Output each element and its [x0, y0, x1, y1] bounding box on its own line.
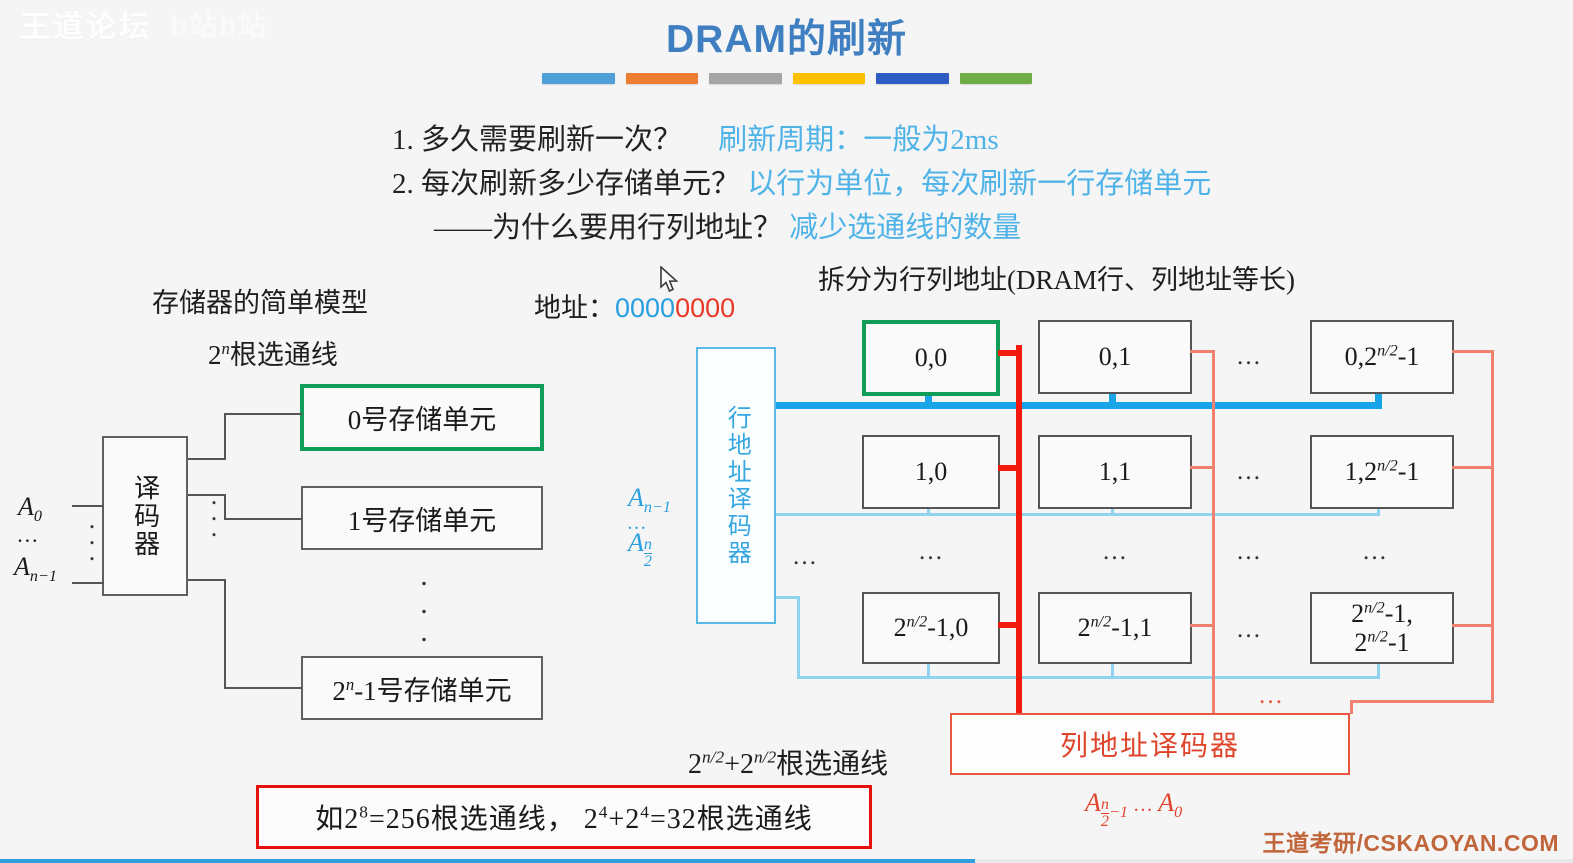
col-line-0-celllast-stub [998, 622, 1020, 628]
an1-letter: A [14, 552, 30, 581]
wire-dec-out-last [188, 579, 226, 581]
mouse-cursor-icon [660, 266, 682, 296]
matrix-cell-0-last-label: 0,2n/2-1 [1345, 342, 1420, 371]
left-diagram-caption: 存储器的简单模型 [152, 281, 368, 320]
wire-dec-last-vert [224, 579, 226, 689]
row-addr-top-letter: A [628, 483, 644, 512]
title-bar-4 [793, 73, 866, 84]
col-line-0-cell10-stub [998, 465, 1020, 471]
col-line-last-celllast-stub [1452, 624, 1494, 627]
address-col-bits: 0000 [675, 293, 735, 323]
column-address-decoder[interactable]: 列地址译码器 [950, 713, 1350, 775]
matrix-cell-1-0[interactable]: 1,0 [862, 435, 1000, 509]
matrix-cell-1-1-label: 1,1 [1099, 457, 1132, 486]
left-cells-dots: ... [416, 562, 432, 646]
example-note-box: 如28=256根选通线， 24+24=32根选通线 [256, 785, 872, 849]
col-line-1-celllast-stub [1190, 624, 1214, 627]
matrix-cell-0-1[interactable]: 0,1 [1038, 320, 1192, 394]
col-line-last-cell0-stub [1452, 350, 1494, 353]
matrix-cell-last-0[interactable]: 2n/2-1,0 [862, 592, 1000, 664]
select-lines-exp: n [222, 339, 230, 358]
col-line-last-bottom-v [1350, 700, 1353, 714]
matrix-row-dots-3: … [1362, 538, 1389, 566]
row-line-0-cell01-stub [1109, 392, 1116, 406]
question-row-1: 1. 多久需要刷新一次？ 刷新周期：一般为2ms [392, 118, 1392, 162]
row-line-last-right-stub [1377, 664, 1380, 678]
col-addr-left-tail: −1 [1109, 804, 1128, 821]
address-label: 地址： [534, 293, 615, 323]
row-addr-bottom-num: n [644, 537, 652, 553]
matrix-row-dots-0: … [918, 538, 945, 566]
slide-title: DRAM的刷新 [0, 8, 1573, 64]
row-addr-bottom-letter: A [628, 528, 644, 557]
matrix-cell-1-last[interactable]: 1,2n/2-1 [1310, 435, 1454, 509]
title-bar-5 [876, 73, 949, 84]
row-line-last [797, 676, 1380, 679]
col-lines-ellipsis: … [1258, 682, 1285, 710]
col-addr-left-num: n [1101, 797, 1109, 813]
matrix-cell-0-0-label: 0,0 [915, 343, 948, 372]
slide-canvas: 王道论坛 b站b站 王道考研/CSKAOYAN.COM DRAM的刷新 1. 多… [0, 0, 1573, 863]
matrix-cell-last-last[interactable]: 2n/2-1,2n/2-1 [1310, 592, 1454, 664]
address-row-bits: 0000 [615, 293, 675, 323]
row-address-decoder-label: 行地址译码器 [724, 405, 748, 567]
matrix-cell-0-0[interactable]: 0,0 [862, 320, 1000, 396]
col-addr-right-sub: 0 [1174, 804, 1182, 821]
question-3-answer: 减少选通线的数量 [789, 212, 1021, 244]
row-decoder-ellipsis: … [792, 543, 819, 571]
question-row-2: 2. 每次刷新多少存储单元？ 以行为单位，每次刷新一行存储单元 [392, 162, 1392, 206]
wire-dec-out-1 [188, 494, 226, 496]
address-row: 地址：00000000 [534, 286, 735, 325]
an1-sub: n−1 [30, 568, 57, 585]
cell-last-tail: -1号存储单元 [354, 676, 512, 706]
matrix-cell-1-0-label: 1,0 [915, 457, 948, 486]
question-1-text: 多久需要刷新一次？ [421, 124, 682, 156]
title-bar-2 [626, 73, 699, 84]
left-input-dots: … [18, 522, 38, 548]
matrix-cell-last-last-label: 2n/2-1,2n/2-1 [1351, 599, 1413, 657]
left-decoder-label: 译码器 [131, 474, 158, 558]
col-line-1 [1212, 350, 1215, 715]
question-2-number: 2. [392, 168, 414, 200]
wire-dec-0-vert [224, 413, 226, 460]
example-note-text: 如28=256根选通线， 24+24=32根选通线 [315, 797, 812, 837]
col-line-0 [1016, 345, 1022, 715]
row-line-0 [776, 402, 1382, 409]
matrix-cell-1-last-label: 1,2n/2-1 [1345, 457, 1420, 486]
matrix-cell-1-1[interactable]: 1,1 [1038, 435, 1192, 509]
row-addr-label-bottom: An2 [628, 528, 652, 570]
left-memory-cell-last[interactable]: 2n-1号存储单元 [301, 656, 543, 720]
column-address-decoder-label: 列地址译码器 [1060, 724, 1240, 764]
col-line-last [1491, 350, 1494, 702]
col-addr-left-letter: A [1085, 788, 1101, 817]
question-1-number: 1. [392, 124, 414, 156]
wire-dec-1-horiz [224, 518, 302, 520]
left-memory-cell-1-label: 1号存储单元 [348, 499, 497, 538]
row-address-decoder[interactable]: 行地址译码器 [696, 347, 776, 624]
question-2-text: 每次刷新多少存储单元？ [421, 168, 740, 200]
row-addr-top-sub: n−1 [644, 499, 671, 516]
select-lines-tail: 根选通线 [230, 340, 338, 370]
left-input-dots-vertical: ... [86, 512, 98, 560]
left-input-wire-bottom [72, 582, 104, 584]
select-lines-split-note: 2n/2+2n/2根选通线 [688, 742, 888, 782]
row-line-last-c1-stub [1111, 662, 1114, 678]
matrix-cell-0-1-label: 0,1 [1099, 342, 1132, 371]
cell-last-base: 2 [332, 676, 346, 706]
right-diagram-heading: 拆分为行列地址(DRAM行、列地址等长) [818, 258, 1295, 297]
left-input-an1: An−1 [14, 552, 57, 586]
question-list: 1. 多久需要刷新一次？ 刷新周期：一般为2ms 2. 每次刷新多少存储单元？ … [392, 118, 1392, 250]
wire-dec-0-horiz [224, 413, 302, 415]
wire-dec-out-0 [188, 458, 226, 460]
question-3-text: ——为什么要用行列地址？ [434, 212, 782, 244]
matrix-row-1-ellipsis: … [1236, 458, 1263, 486]
cell-last-exp: n [346, 675, 354, 694]
left-memory-cell-1[interactable]: 1号存储单元 [301, 486, 543, 550]
matrix-row-dots-1: … [1102, 538, 1129, 566]
watermark-bottom-right: 王道考研/CSKAOYAN.COM [1263, 824, 1559, 858]
col-line-1-cell01-stub [1190, 350, 1214, 353]
row-line-last-stub-v [797, 596, 800, 679]
left-memory-cell-0-label: 0号存储单元 [348, 398, 497, 437]
title-underline-bars [542, 73, 1032, 85]
col-addr-right-letter: A [1158, 788, 1174, 817]
question-1-answer: 刷新周期：一般为2ms [718, 124, 998, 156]
matrix-row-dots-2: … [1236, 538, 1263, 566]
question-row-3: ——为什么要用行列地址？ 减少选通线的数量 [392, 206, 1392, 250]
col-addr-label: An2−1 … A0 [1085, 788, 1182, 830]
left-decoder-box: 译码器 [102, 436, 188, 596]
col-line-last-bottom-h [1350, 700, 1494, 703]
title-bar-1 [542, 73, 615, 84]
col-line-last-cell1-stub [1452, 466, 1494, 469]
col-line-1-cell11-stub [1190, 466, 1214, 469]
matrix-cell-last-1-label: 2n/2-1,1 [1078, 613, 1153, 642]
left-input-wire-top [72, 505, 104, 507]
player-progress-fill[interactable] [0, 859, 975, 863]
title-bar-6 [960, 73, 1033, 84]
matrix-row-0-ellipsis: … [1236, 343, 1263, 371]
matrix-cell-last-0-label: 2n/2-1,0 [894, 613, 969, 642]
left-wire-dots: ... [208, 488, 220, 536]
wire-dec-1-vert [224, 494, 226, 520]
question-2-answer: 以行为单位，每次刷新一行存储单元 [747, 168, 1211, 200]
a0-letter: A [18, 492, 34, 521]
col-addr-dots: … [1134, 794, 1152, 816]
left-memory-cell-last-label: 2n-1号存储单元 [332, 669, 511, 708]
title-bar-3 [709, 73, 782, 84]
matrix-row-last-ellipsis: … [1236, 616, 1263, 644]
col-line-0-cell00-stub [998, 350, 1020, 356]
col-addr-left-den: 2 [1101, 813, 1109, 830]
select-lines-base: 2 [208, 340, 222, 370]
row-line-1 [776, 513, 1380, 516]
row-addr-bottom-den: 2 [644, 553, 652, 570]
wire-dec-last-horiz [224, 687, 302, 689]
row-line-last-c0-stub [927, 662, 930, 678]
matrix-cell-0-last[interactable]: 0,2n/2-1 [1310, 320, 1454, 394]
left-memory-cell-0[interactable]: 0号存储单元 [300, 384, 544, 451]
matrix-cell-last-1[interactable]: 2n/2-1,1 [1038, 592, 1192, 664]
left-select-lines-label: 2n根选通线 [208, 333, 338, 372]
